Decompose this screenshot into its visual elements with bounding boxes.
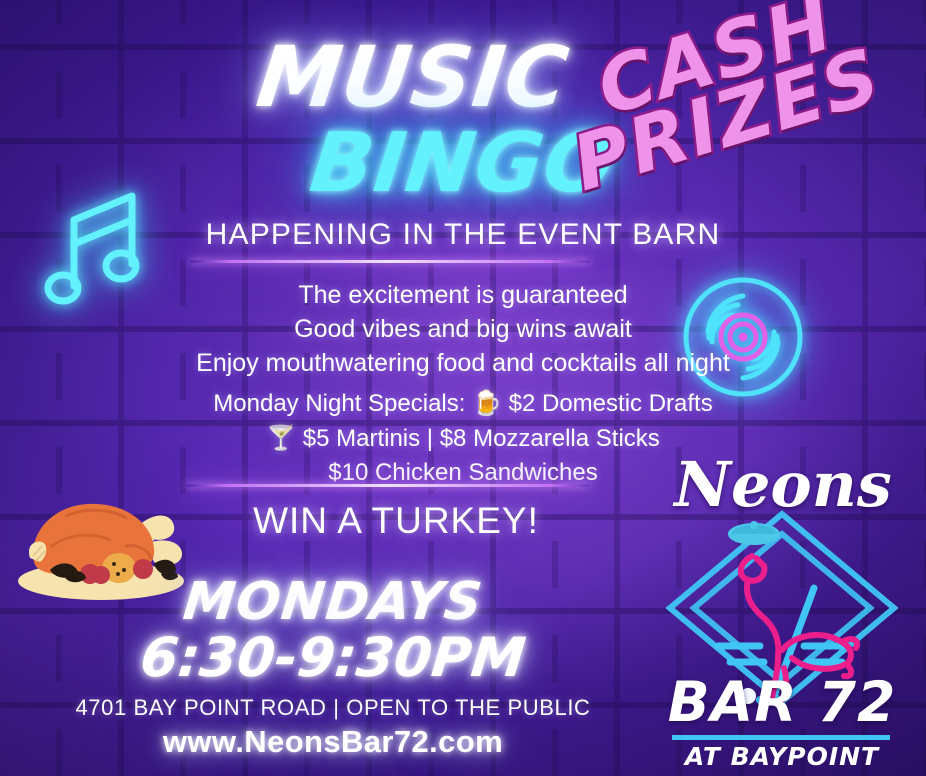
event-location-subtitle: HAPPENING IN THE EVENT BARN xyxy=(0,218,926,252)
tagline-3: Enjoy mouthwatering food and cocktails a… xyxy=(0,346,926,380)
specials-drafts: $2 Domestic Drafts xyxy=(502,390,713,417)
tagline-2: Good vibes and big wins await xyxy=(0,312,926,346)
logo-bar-name: BAR 72 xyxy=(654,670,910,734)
divider-top xyxy=(190,260,590,263)
neons-bar-72-logo: Neons xyxy=(648,448,916,768)
cocktail-glass-icon: 🍸 xyxy=(266,424,296,452)
beer-mug-icon: 🍺 xyxy=(472,389,502,417)
specials-line-1: Monday Night Specials: 🍺 $2 Domestic Dra… xyxy=(0,386,926,421)
logo-brand-script: Neons xyxy=(658,448,908,521)
tagline-block: The excitement is guaranteed Good vibes … xyxy=(0,278,926,380)
promo-flyer: MUSIC BINGO CASH PRIZES HAPPENING IN xyxy=(0,0,926,776)
win-a-turkey-text: WIN A TURKEY! xyxy=(196,500,596,542)
logo-location: AT BAYPOINT xyxy=(654,742,910,771)
tagline-1: The excitement is guaranteed xyxy=(0,278,926,312)
specials-martinis-mozzarella: $5 Martinis | $8 Mozzarella Sticks xyxy=(296,425,660,452)
logo-underline xyxy=(672,735,890,740)
divider-bottom xyxy=(186,484,590,487)
specials-label: Monday Night Specials: xyxy=(213,390,472,417)
